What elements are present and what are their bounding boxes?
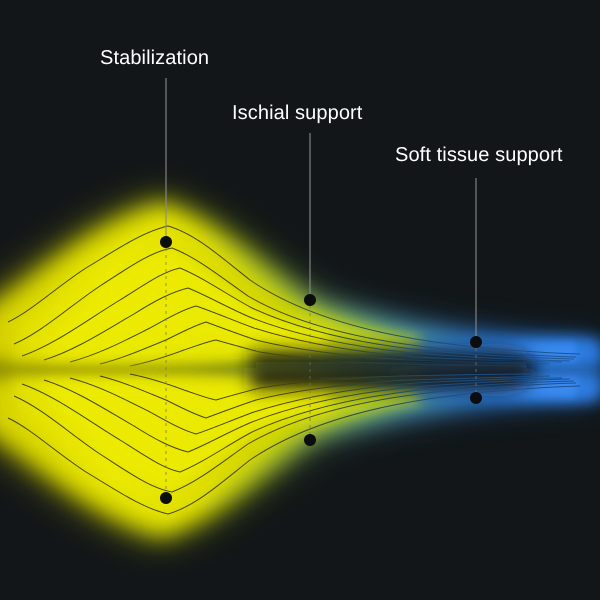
marker-dot-ischial-support-mirror[interactable] xyxy=(304,434,316,446)
marker-dot-stabilization-mirror[interactable] xyxy=(160,492,172,504)
marker-dot-soft-tissue-support[interactable] xyxy=(470,336,482,348)
heatmap-lower-half xyxy=(0,368,600,544)
heatmap-canvas xyxy=(0,0,600,600)
annotation-label-stabilization: Stabilization xyxy=(100,48,209,68)
heatmap-upper-half xyxy=(0,196,600,372)
annotation-label-soft-tissue-support: Soft tissue support xyxy=(395,145,563,165)
marker-dot-stabilization[interactable] xyxy=(160,236,172,248)
annotation-label-ischial-support: Ischial support xyxy=(232,103,362,123)
marker-dot-soft-tissue-support-mirror[interactable] xyxy=(470,392,482,404)
pressure-map-figure: Stabilization Ischial support Soft tissu… xyxy=(0,0,600,600)
marker-dot-ischial-support[interactable] xyxy=(304,294,316,306)
